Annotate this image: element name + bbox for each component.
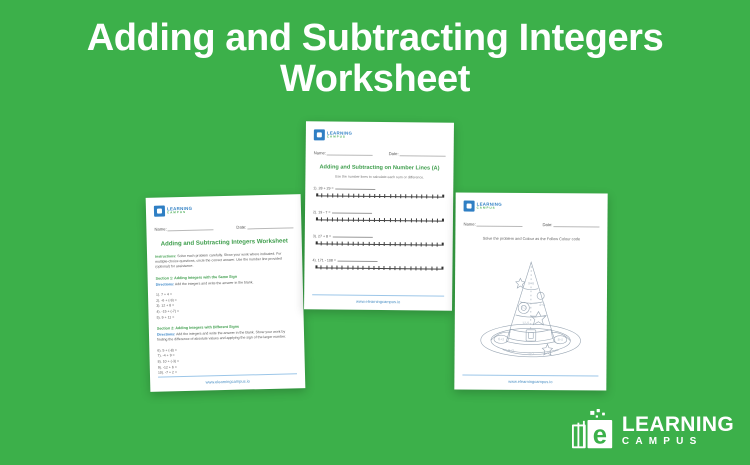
date-label: Date: — [389, 151, 399, 156]
date-field: Date: — [389, 151, 446, 157]
question-text: 4). 171 - 108 = — [313, 258, 337, 262]
worksheet-footer-url[interactable]: www.elearningcampus.io — [312, 294, 444, 304]
name-input-line[interactable] — [477, 222, 523, 227]
witch-hat-icon: 9+6 7-2 4+8 12-5 6+3 8-4 15-7 5+5 — [474, 255, 587, 368]
worksheet-card-right[interactable]: LEARNING CAMPUS Name: Date: Solve the pr… — [454, 192, 607, 390]
name-field: Name: — [314, 150, 373, 156]
numberline-question-1: 1). 28 + 29 = — [313, 178, 445, 203]
logo-campus-text: CAMPUS — [167, 211, 192, 215]
numberline-question-4: 4). 171 - 108 = — [312, 250, 444, 275]
answer-blank[interactable] — [336, 185, 376, 189]
section2-problem-list: 6). 5 + (-8) = 7). -4 + 9 = 8). 10 + (-3… — [157, 345, 297, 377]
svg-text:12-5: 12-5 — [522, 321, 529, 325]
brand-learning-text: LEARNING — [622, 414, 734, 435]
book-stack-icon — [314, 129, 325, 140]
name-date-row: Name: Date: — [154, 223, 293, 231]
section2-directions-block: Directions: Add the integers and write t… — [157, 330, 296, 344]
svg-text:9+6: 9+6 — [528, 282, 534, 286]
question-text: 2). 19 - 7 = — [313, 210, 331, 214]
date-label: Date: — [542, 222, 552, 227]
date-input-line[interactable] — [247, 223, 293, 229]
name-label: Name: — [154, 226, 166, 231]
worksheet-footer-url[interactable]: www.elearningcampus.io — [462, 375, 598, 385]
svg-text:8-4: 8-4 — [558, 338, 563, 342]
page-title-block: Adding and Subtracting Integers Workshee… — [0, 18, 750, 100]
book-stack-icon — [464, 201, 475, 212]
section1-problem-list: 1). 7 + 4 = 2). -6 + (-9) = 3). 12 + 8 =… — [156, 289, 296, 321]
book-stack-icon: e — [570, 409, 616, 451]
number-line-axis — [312, 265, 444, 275]
name-date-row: Name: Date: — [463, 222, 599, 228]
instructions-label: Instructions: — [155, 254, 176, 259]
svg-text:6+3: 6+3 — [498, 337, 504, 341]
answer-blank[interactable] — [333, 209, 373, 213]
answer-blank[interactable] — [333, 233, 373, 237]
date-input-line[interactable] — [400, 151, 446, 156]
logo-campus-text: CAMPUS — [477, 207, 502, 210]
worksheet-card-middle[interactable]: LEARNING CAMPUS Name: Date: Adding and S… — [304, 121, 454, 311]
name-label: Name: — [463, 222, 475, 227]
svg-text:4+8: 4+8 — [539, 303, 545, 307]
page-title: Adding and Subtracting Integers Workshee… — [34, 18, 716, 100]
name-input-line[interactable] — [327, 150, 373, 155]
instructions-block: Instructions: Solve each problem careful… — [155, 251, 294, 270]
numberline-question-2: 2). 19 - 7 = — [313, 202, 445, 227]
witch-hat-artwork: 9+6 7-2 4+8 12-5 6+3 8-4 15-7 5+5 — [462, 247, 599, 376]
date-input-line[interactable] — [553, 222, 599, 227]
number-line-axis — [313, 241, 445, 251]
section2-directions-text: Add the integers and write the answer in… — [157, 330, 286, 342]
worksheet-card-left[interactable]: LEARNING CAMPUS Name: Date: Adding and S… — [146, 194, 306, 392]
name-input-line[interactable] — [168, 225, 214, 231]
logo-campus-text: CAMPUS — [327, 136, 352, 139]
brand-campus-text: CAMPUS — [622, 437, 734, 447]
worksheet-logo: LEARNING CAMPUS — [154, 201, 293, 217]
svg-text:15-7: 15-7 — [527, 352, 534, 356]
name-field: Name: — [463, 222, 522, 227]
section1-directions-label: Directions: — [156, 282, 174, 286]
svg-text:7-2: 7-2 — [521, 306, 526, 310]
name-date-row: Name: Date: — [314, 150, 446, 156]
worksheet-title: Adding and Subtracting on Number Lines (… — [313, 164, 445, 173]
brand-e-letter: e — [593, 422, 607, 450]
numberline-question-3: 3). 27 + 8 = — [313, 226, 445, 251]
brand-logo[interactable]: e LEARNING CAMPUS — [570, 409, 734, 451]
section1-directions-text: Add the integers and write the answer in… — [175, 280, 254, 286]
number-line-axis — [313, 217, 445, 227]
question-text: 1). 28 + 29 = — [313, 186, 333, 190]
worksheet-logo: LEARNING CAMPUS — [464, 200, 600, 214]
svg-text:5+5: 5+5 — [508, 349, 514, 353]
date-field: Date: — [542, 222, 599, 227]
name-label: Name: — [314, 150, 326, 155]
date-label: Date: — [236, 224, 246, 229]
section1-directions-block: Directions: Add the integers and write t… — [156, 279, 295, 288]
book-stack-icon — [154, 205, 165, 216]
answer-blank[interactable] — [338, 257, 378, 261]
worksheet-title: Adding and Subtracting Integers Workshee… — [155, 237, 294, 249]
number-line-axis — [313, 193, 445, 203]
colouring-instruction: Solve the problem and Colour as the Foll… — [463, 236, 599, 242]
date-field: Date: — [236, 223, 293, 229]
name-field: Name: — [154, 225, 213, 231]
question-text: 3). 27 + 8 = — [313, 234, 331, 238]
worksheet-logo: LEARNING CAMPUS — [314, 128, 446, 142]
section2-directions-label: Directions: — [157, 332, 175, 336]
